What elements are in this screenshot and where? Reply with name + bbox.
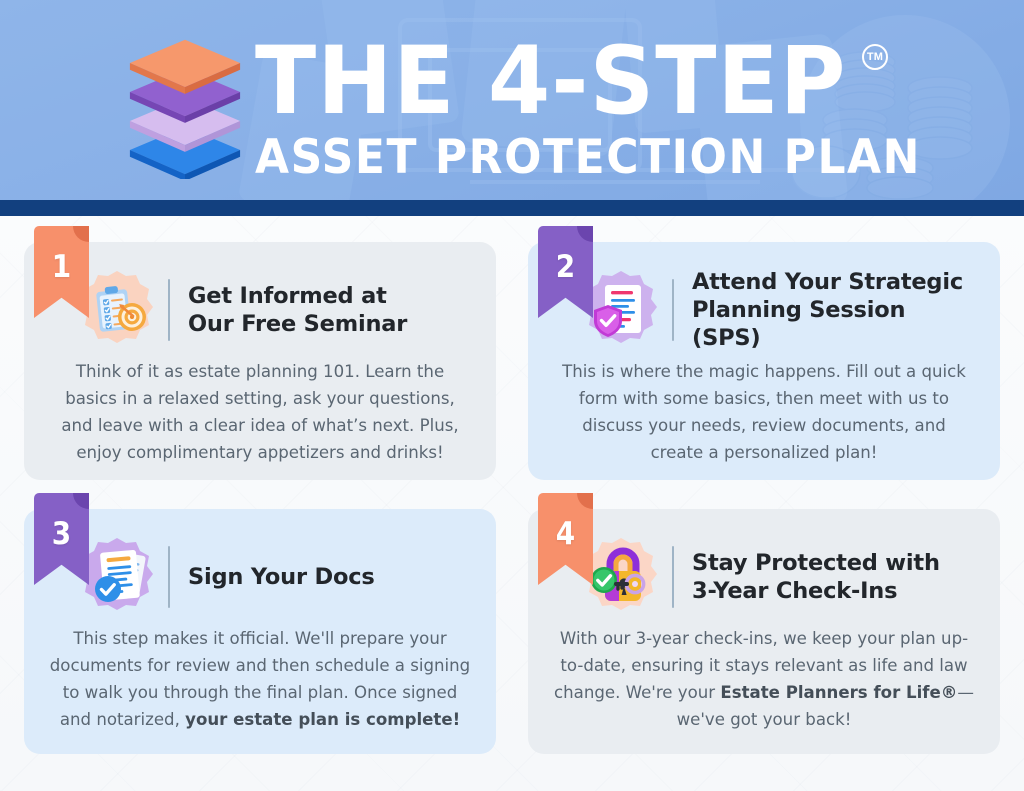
step-number-ribbon-2: 2 [538, 226, 593, 318]
step-number-4: 4 [538, 519, 593, 550]
card-body-4: With our 3-year check-ins, we keep your … [528, 619, 1000, 733]
trademark-icon: TM [862, 44, 888, 70]
step-card-2[interactable]: 2 [528, 242, 1000, 480]
page-title-sub: ASSET PROTECTION PLAN [255, 132, 941, 184]
step-number-1: 1 [34, 252, 89, 283]
step-number-ribbon-3: 3 [34, 493, 89, 585]
card-body-bold: your estate plan is complete! [185, 710, 460, 729]
step-card-4[interactable]: 4 [528, 509, 1000, 754]
card-title-line1: Get Informed at [188, 283, 387, 309]
card-body-1: Think of it as estate planning 101. Lear… [24, 352, 496, 466]
card-body-3: This step makes it official. We'll prepa… [24, 619, 496, 733]
header-divider [672, 279, 674, 341]
card-title-line1: Stay Protected with [692, 550, 940, 576]
card-title-3: Sign Your Docs [188, 563, 470, 591]
card-title-line1: Attend Your Strategic [692, 269, 963, 295]
card-header-2: Attend Your Strategic Planning Session (… [528, 242, 1000, 352]
header-divider [672, 546, 674, 608]
page-title-main: THE 4-STEP [255, 34, 955, 130]
step-number-ribbon-1: 1 [34, 226, 89, 318]
header-divider [168, 546, 170, 608]
card-header-3: Sign Your Docs [24, 509, 496, 619]
header-title-group: THE 4-STEP ASSET PROTECTION PLAN [255, 34, 915, 184]
step-number-ribbon-4: 4 [538, 493, 593, 585]
header-divider [168, 279, 170, 341]
card-header-4: Stay Protected with 3-Year Check-Ins [528, 509, 1000, 619]
card-body-text: This is where the magic happens. Fill ou… [562, 362, 966, 462]
step-card-1[interactable]: 1 [24, 242, 496, 480]
steps-grid: 1 [0, 216, 1024, 791]
card-title-line2: 3-Year Check-Ins [692, 578, 897, 604]
step-card-3[interactable]: 3 [24, 509, 496, 754]
card-body-bold: Estate Planners for Life® [720, 683, 957, 702]
card-header-1: Get Informed at Our Free Seminar [24, 242, 496, 352]
header-banner: THE 4-STEP ASSET PROTECTION PLAN TM [0, 0, 1024, 200]
card-title-line2: Planning Session (SPS) [692, 297, 905, 351]
stacked-layers-logo [120, 34, 250, 179]
card-title-line2: Our Free Seminar [188, 311, 407, 337]
card-title-2: Attend Your Strategic Planning Session (… [692, 268, 974, 352]
card-body-text: Think of it as estate planning 101. Lear… [61, 362, 458, 462]
card-title-4: Stay Protected with 3-Year Check-Ins [692, 549, 974, 605]
card-title-1: Get Informed at Our Free Seminar [188, 282, 470, 338]
step-number-2: 2 [538, 252, 593, 283]
navy-divider-bar [0, 200, 1024, 216]
step-number-3: 3 [34, 519, 89, 550]
card-body-2: This is where the magic happens. Fill ou… [528, 352, 1000, 466]
